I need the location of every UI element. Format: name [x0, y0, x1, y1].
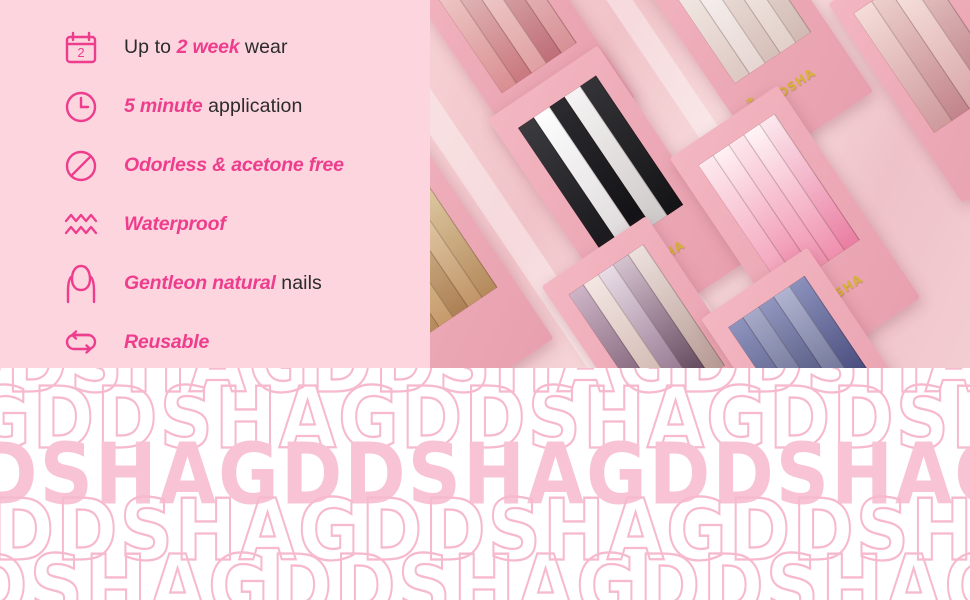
brand-pattern-row: GDDSHAGDDSHAGDDSHAGDDSHAGDDSHAGDDSHA	[0, 544, 970, 600]
waves-icon	[58, 202, 104, 248]
clock-icon	[58, 84, 104, 130]
feature-row: Odorless & acetone free	[0, 136, 430, 195]
feature-row: Reusable	[0, 313, 430, 372]
feature-row: 5 minute application	[0, 77, 430, 136]
feature-label: Up to 2 week wear	[124, 36, 288, 59]
feature-row: Waterproof	[0, 195, 430, 254]
calendar-icon: 2	[58, 25, 104, 71]
features-panel: 2 Up to 2 week wear 5 minute application	[0, 0, 430, 368]
feature-row: Gentleon natural nails	[0, 254, 430, 313]
feature-label: 5 minute application	[124, 95, 302, 118]
product-photo: ❧ GGDDSHA ❧ GGDDSHA	[430, 0, 970, 368]
feature-label: Gentleon natural nails	[124, 272, 322, 295]
product-banner: 2 Up to 2 week wear 5 minute application	[0, 0, 970, 600]
fingernail-icon	[58, 261, 104, 307]
feature-label: Reusable	[124, 331, 209, 354]
calendar-day-number: 2	[77, 45, 84, 60]
refresh-loop-icon	[58, 320, 104, 366]
feature-label: Odorless & acetone free	[124, 154, 344, 177]
feature-label: Waterproof	[124, 213, 226, 236]
top-section: 2 Up to 2 week wear 5 minute application	[0, 0, 970, 368]
no-entry-icon	[58, 143, 104, 189]
bottom-section: GDDSHAGDDSHAGDDSHAGDDSHAGDDSHAGDDSHA GDD…	[0, 368, 970, 600]
feature-row: 2 Up to 2 week wear	[0, 18, 430, 77]
